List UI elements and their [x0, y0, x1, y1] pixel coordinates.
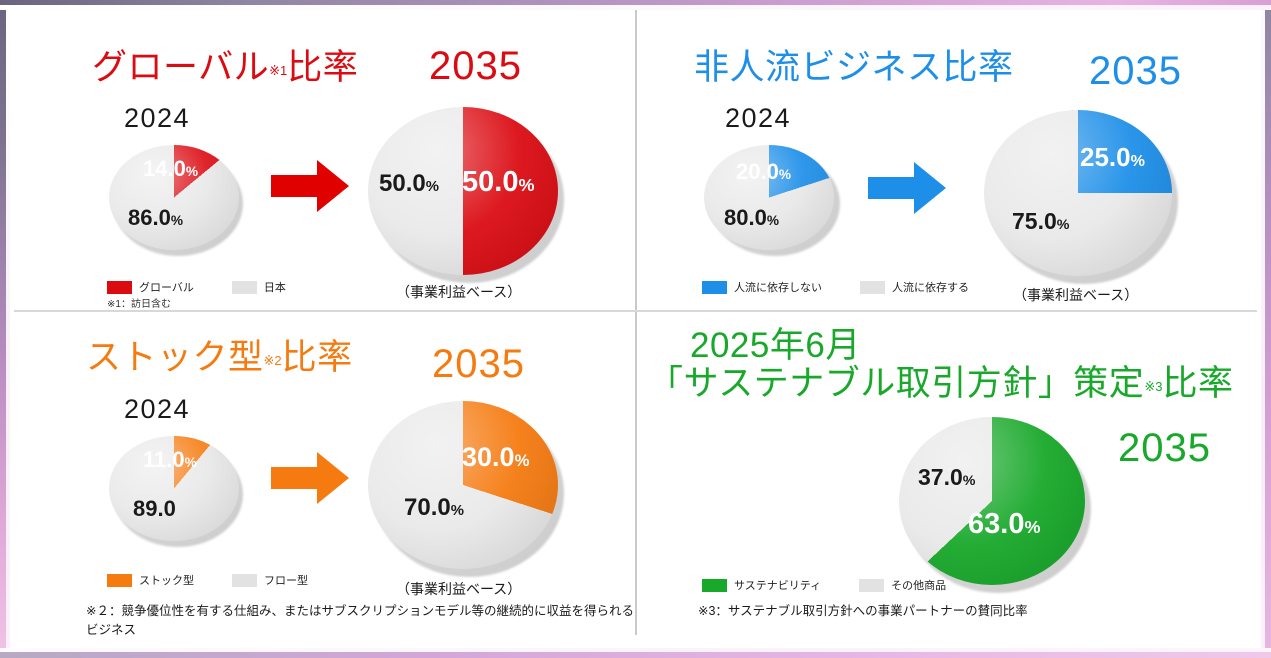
stock-legend-swatch-stock	[107, 574, 132, 587]
nonflow-2035-pie-chart: 25.0% 75.0%	[980, 105, 1195, 285]
panel-nonflow-title: 非人流ビジネス比率	[694, 48, 1014, 87]
frame-border-left-inner	[6, 0, 10, 658]
global-2024-red-slice-label: 14.0%	[143, 158, 198, 180]
nonflow-legend: 人流に依存しない 人流に依存する	[702, 279, 969, 295]
nonflow-2024-gray-value: 80.0	[724, 205, 767, 230]
stock-2035-gray-slice-label: 70.0%	[404, 496, 464, 520]
stock-2035-orange-slice-label: 30.0%	[462, 444, 529, 471]
stock-2035-gray-value: 70.0	[404, 494, 451, 521]
global-legend-item-0: グローバル	[107, 279, 194, 295]
nonflow-legend-item-0: 人流に依存しない	[702, 279, 822, 295]
nonflow-2024-gray-slice-label: 80.0%	[724, 207, 779, 229]
nonflow-2024-blue-unit: %	[779, 167, 791, 182]
frame-border-right-inner	[1261, 0, 1265, 658]
global-2035-gray-unit: %	[426, 179, 439, 195]
panel-nonflow-title-main: 非人流ビジネス比率	[694, 48, 1014, 87]
global-2035-red-slice-label: 50.0%	[462, 168, 534, 197]
sustainable-gray-value: 37.0	[918, 464, 963, 490]
nonflow-legend-label-dependent: 人流に依存する	[892, 279, 969, 295]
global-2035-caption: （事業利益ベース）	[396, 282, 521, 302]
panel-stock-title-main: ストック型	[86, 338, 264, 377]
sustainable-green-slice-label: 63.0%	[968, 510, 1040, 539]
sustainable-2035-pie-shade	[899, 417, 1085, 585]
global-2024-pie-chart: 14.0% 86.0%	[107, 137, 259, 259]
stock-2035-gray-unit: %	[451, 503, 464, 519]
panel-sustainable-title-footnote-marker: ※3	[1144, 379, 1162, 394]
global-2024-gray-unit: %	[171, 213, 183, 228]
panel-nonflow-ratio: 非人流ビジネス比率 2024 20.0% 80.0% 2035 25.0%	[640, 10, 1257, 310]
global-year-2024-label: 2024	[124, 103, 190, 134]
nonflow-2035-blue-unit: %	[1131, 152, 1145, 170]
stock-year-2035-label: 2035	[432, 342, 525, 387]
global-2024-red-value: 14.0	[143, 156, 186, 181]
nonflow-year-2024-label: 2024	[725, 103, 791, 134]
nonflow-transition-arrow-icon	[868, 160, 946, 216]
global-legend-item-1: 日本	[232, 279, 286, 295]
stock-2024-pie-chart: 11.0% 89.0	[107, 428, 259, 550]
nonflow-2024-blue-slice-label: 20.0%	[736, 161, 791, 183]
global-legend-swatch-global	[107, 281, 132, 294]
panel-stock-title-footnote-marker: ※2	[264, 353, 282, 368]
global-2035-pie-chart: 50.0% 50.0%	[364, 102, 579, 277]
sustainable-legend-swatch-other	[859, 579, 884, 592]
stock-2024-orange-unit: %	[185, 455, 197, 470]
stock-transition-arrow-icon	[271, 450, 349, 506]
nonflow-legend-label-independent: 人流に依存しない	[734, 279, 822, 295]
stock-2035-orange-unit: %	[515, 451, 530, 470]
slide-canvas: グローバル※1比率 2024 14.0% 86.0% 2035 50	[0, 0, 1271, 658]
global-2035-red-value: 50.0	[462, 166, 518, 198]
sustainable-green-unit: %	[1024, 517, 1040, 537]
panel-stock-title-tail: 比率	[282, 338, 353, 377]
nonflow-legend-item-1: 人流に依存する	[860, 279, 969, 295]
panel-global-title-footnote-marker: ※1	[269, 63, 287, 78]
panel-sustainable-ratio: 2025年6月 「サステナブル取引方針」策定※3比率 2035 37.0% 63…	[640, 314, 1257, 644]
stock-2035-orange-value: 30.0	[462, 442, 515, 472]
sustainable-legend-label-other: その他商品	[891, 577, 946, 593]
panel-stock-title: ストック型※2比率	[86, 338, 353, 377]
stock-2024-orange-value: 11.0	[143, 447, 185, 472]
frame-border-bottom-inner	[0, 648, 1271, 652]
global-year-2035-label: 2035	[429, 44, 522, 89]
nonflow-year-2035-label: 2035	[1089, 49, 1182, 94]
sustainable-legend-item-0: サステナビリティ	[702, 577, 821, 593]
nonflow-2035-caption: （事業利益ベース）	[1013, 285, 1138, 305]
sustainable-legend: サステナビリティ その他商品	[702, 577, 946, 593]
stock-footnote: ※２：競争優位性を有する仕組み、またはサブスクリプションモデル等の継続的に収益を…	[86, 602, 640, 641]
sustainable-2035-pie-chart: 37.0% 63.0%	[895, 412, 1110, 597]
sustainable-footnote: ※3：サステナブル取引方針への事業パートナーの賛同比率	[698, 602, 1243, 621]
panel-sustainable-title-line2: 「サステナブル取引方針」策定※3比率	[648, 364, 1233, 403]
sustainable-legend-item-1: その他商品	[859, 577, 946, 593]
nonflow-2024-gray-unit: %	[767, 213, 779, 228]
global-transition-arrow-icon	[271, 158, 349, 214]
global-legend-label-japan: 日本	[264, 279, 286, 295]
divider-vertical	[635, 10, 637, 635]
panel-sustainable-title-line1: 2025年6月	[690, 326, 861, 365]
sustainable-year-2035-label: 2035	[1118, 426, 1211, 471]
nonflow-2035-blue-slice-label: 25.0%	[1080, 144, 1145, 170]
panel-global-title-tail: 比率	[287, 48, 358, 87]
panel-stock-ratio: ストック型※2比率 2024 11.0% 89.0 2035 30.0%	[14, 314, 635, 644]
global-2024-gray-slice-label: 86.0%	[128, 207, 183, 229]
stock-2035-caption: （事業利益ベース）	[396, 579, 521, 599]
global-footnote: ※1：訪日含む	[107, 298, 171, 312]
stock-legend-label-stock: ストック型	[139, 572, 194, 588]
sustainable-legend-swatch-sustainability	[702, 579, 727, 592]
stock-2035-pie-shade	[368, 401, 558, 569]
nonflow-2035-pie-shade	[984, 110, 1172, 276]
sustainable-legend-label-sustainability: サステナビリティ	[734, 577, 821, 593]
panel-global-title-main: グローバル	[92, 48, 269, 87]
panel-sustainable-title-tail: 比率	[1162, 364, 1233, 403]
panel-global-title: グローバル※1比率	[92, 48, 358, 87]
stock-2024-gray-slice-label: 89.0	[133, 498, 176, 520]
nonflow-2035-blue-value: 25.0	[1080, 142, 1131, 172]
stock-legend-label-flow: フロー型	[264, 572, 308, 588]
global-legend-swatch-japan	[232, 281, 257, 294]
sustainable-green-value: 63.0	[968, 508, 1024, 540]
stock-year-2024-label: 2024	[124, 394, 190, 425]
stock-2024-gray-value: 89.0	[133, 496, 176, 521]
nonflow-2035-gray-slice-label: 75.0%	[1012, 210, 1069, 233]
stock-legend-item-0: ストック型	[107, 572, 194, 588]
nonflow-legend-swatch-independent	[702, 281, 727, 294]
stock-legend-swatch-flow	[232, 574, 257, 587]
nonflow-2035-gray-unit: %	[1057, 217, 1070, 233]
panel-global-ratio: グローバル※1比率 2024 14.0% 86.0% 2035 50	[14, 10, 635, 310]
sustainable-gray-unit: %	[963, 473, 976, 489]
global-2035-gray-value: 50.0	[379, 170, 426, 197]
global-legend-label-global: グローバル	[139, 279, 194, 295]
stock-legend-item-1: フロー型	[232, 572, 308, 588]
global-2024-red-unit: %	[186, 164, 198, 179]
panel-sustainable-title-main: 「サステナブル取引方針」策定	[648, 364, 1144, 403]
nonflow-2024-blue-value: 20.0	[736, 159, 779, 184]
nonflow-2035-gray-value: 75.0	[1012, 208, 1057, 234]
sustainable-gray-slice-label: 37.0%	[918, 466, 975, 489]
nonflow-2024-pie-chart: 20.0% 80.0%	[702, 137, 852, 259]
stock-2024-orange-slice-label: 11.0%	[143, 449, 197, 471]
nonflow-legend-swatch-dependent	[860, 281, 885, 294]
global-2035-gray-slice-label: 50.0%	[379, 172, 439, 196]
global-legend: グローバル 日本	[107, 279, 286, 295]
global-2024-gray-value: 86.0	[128, 205, 171, 230]
stock-legend: ストック型 フロー型	[107, 572, 308, 588]
stock-2035-pie-chart: 30.0% 70.0%	[364, 396, 579, 576]
global-2035-red-unit: %	[518, 175, 534, 195]
divider-horizontal	[14, 310, 1257, 312]
